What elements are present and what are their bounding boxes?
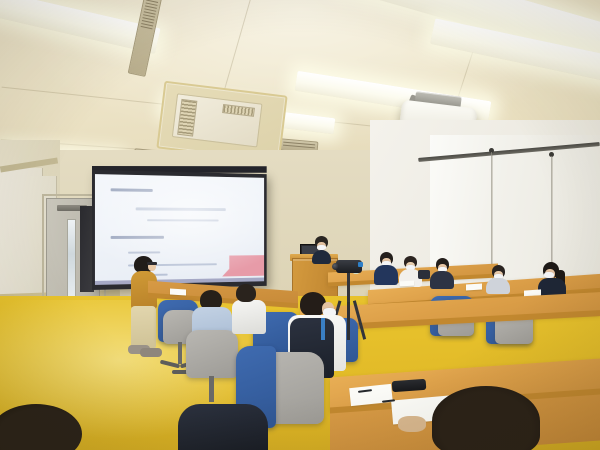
handout-paper — [170, 288, 186, 295]
panelist-body — [430, 271, 454, 289]
foreground-person-head — [432, 386, 540, 450]
projected-slide — [95, 174, 264, 285]
ac-grille-icon — [177, 99, 197, 137]
tripod-leg — [347, 302, 350, 340]
partition-hanger — [551, 156, 552, 276]
student-lanyard — [321, 318, 325, 340]
foreground-person-ear — [398, 416, 426, 432]
projection-screen — [92, 170, 267, 290]
handout-paper — [400, 281, 414, 287]
presenter-trousers — [131, 306, 156, 348]
presenter-shoe — [140, 348, 162, 357]
handout-paper — [466, 283, 482, 290]
partition-hanger — [491, 152, 492, 272]
student-hair — [236, 284, 256, 302]
chair-seat[interactable] — [186, 330, 238, 378]
camera-screen-icon — [358, 262, 363, 267]
slide-glare — [95, 174, 264, 285]
room-photo-scene — [0, 0, 600, 450]
shoulder-bag — [418, 270, 430, 279]
door-vision-panel — [67, 219, 76, 297]
pencil-case[interactable] — [392, 379, 427, 392]
ac-grille-icon — [222, 104, 255, 117]
camera-lens-icon — [332, 263, 339, 270]
student-back — [178, 404, 268, 450]
chair-column — [209, 376, 214, 402]
chair-column — [178, 342, 182, 364]
panelist-body — [486, 278, 510, 294]
presenter-glasses-icon — [147, 262, 157, 265]
operator-body — [312, 250, 331, 264]
panelist-body — [374, 265, 398, 285]
student-shirt — [232, 300, 266, 334]
